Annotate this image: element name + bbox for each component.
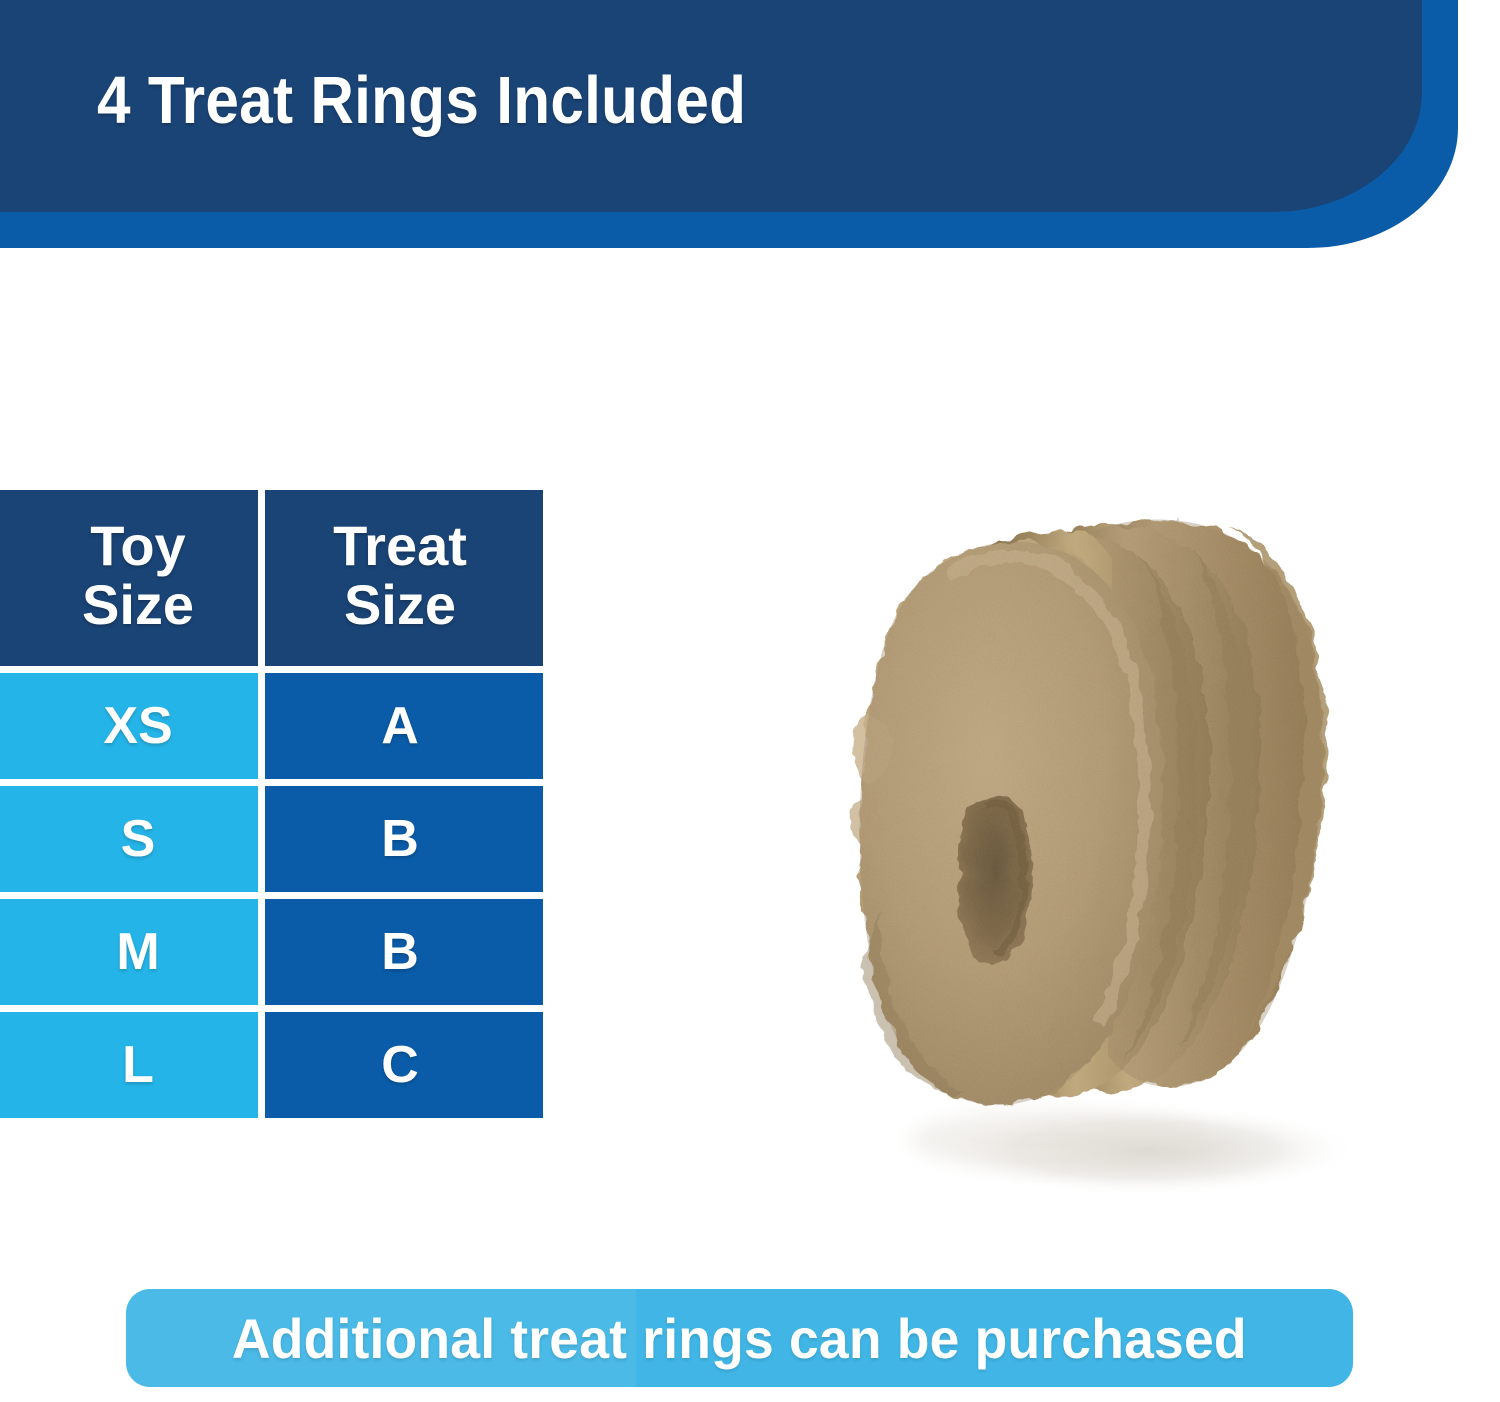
treat-size-value: B: [381, 809, 419, 869]
toy-size-value: XS: [103, 696, 172, 756]
table-header-toy-size-line2: Size: [82, 576, 194, 635]
toy-treat-size-table: Toy Size Treat Size XS A S B M B L C: [0, 490, 536, 1118]
table-row: C: [265, 1012, 543, 1118]
table-row: L: [0, 1012, 258, 1118]
additional-treat-rings-note: Additional treat rings can be purchased: [126, 1289, 1353, 1387]
toy-size-value: S: [121, 809, 156, 869]
table-row: B: [265, 786, 543, 892]
table-header-toy-size-line1: Toy: [82, 517, 194, 576]
header-banner: 4 Treat Rings Included: [0, 0, 1500, 250]
table-row: B: [265, 899, 543, 1005]
table-row: XS: [0, 673, 258, 779]
table-header-treat-size-line2: Size: [333, 576, 467, 635]
table-header-toy-size: Toy Size: [0, 490, 258, 666]
additional-treat-rings-note-text: Additional treat rings can be purchased: [232, 1306, 1247, 1371]
table-row: M: [0, 899, 258, 1005]
table-row: A: [265, 673, 543, 779]
toy-size-value: M: [116, 922, 159, 982]
page-title: 4 Treat Rings Included: [97, 66, 746, 136]
product-photo-treat-rings: [760, 350, 1420, 1210]
treat-size-value: B: [381, 922, 419, 982]
table-header-treat-size-line1: Treat: [333, 517, 467, 576]
table-row: S: [0, 786, 258, 892]
toy-size-value: L: [122, 1035, 154, 1095]
treat-size-value: C: [381, 1035, 419, 1095]
table-header-treat-size: Treat Size: [265, 490, 543, 666]
treat-size-value: A: [381, 696, 419, 756]
